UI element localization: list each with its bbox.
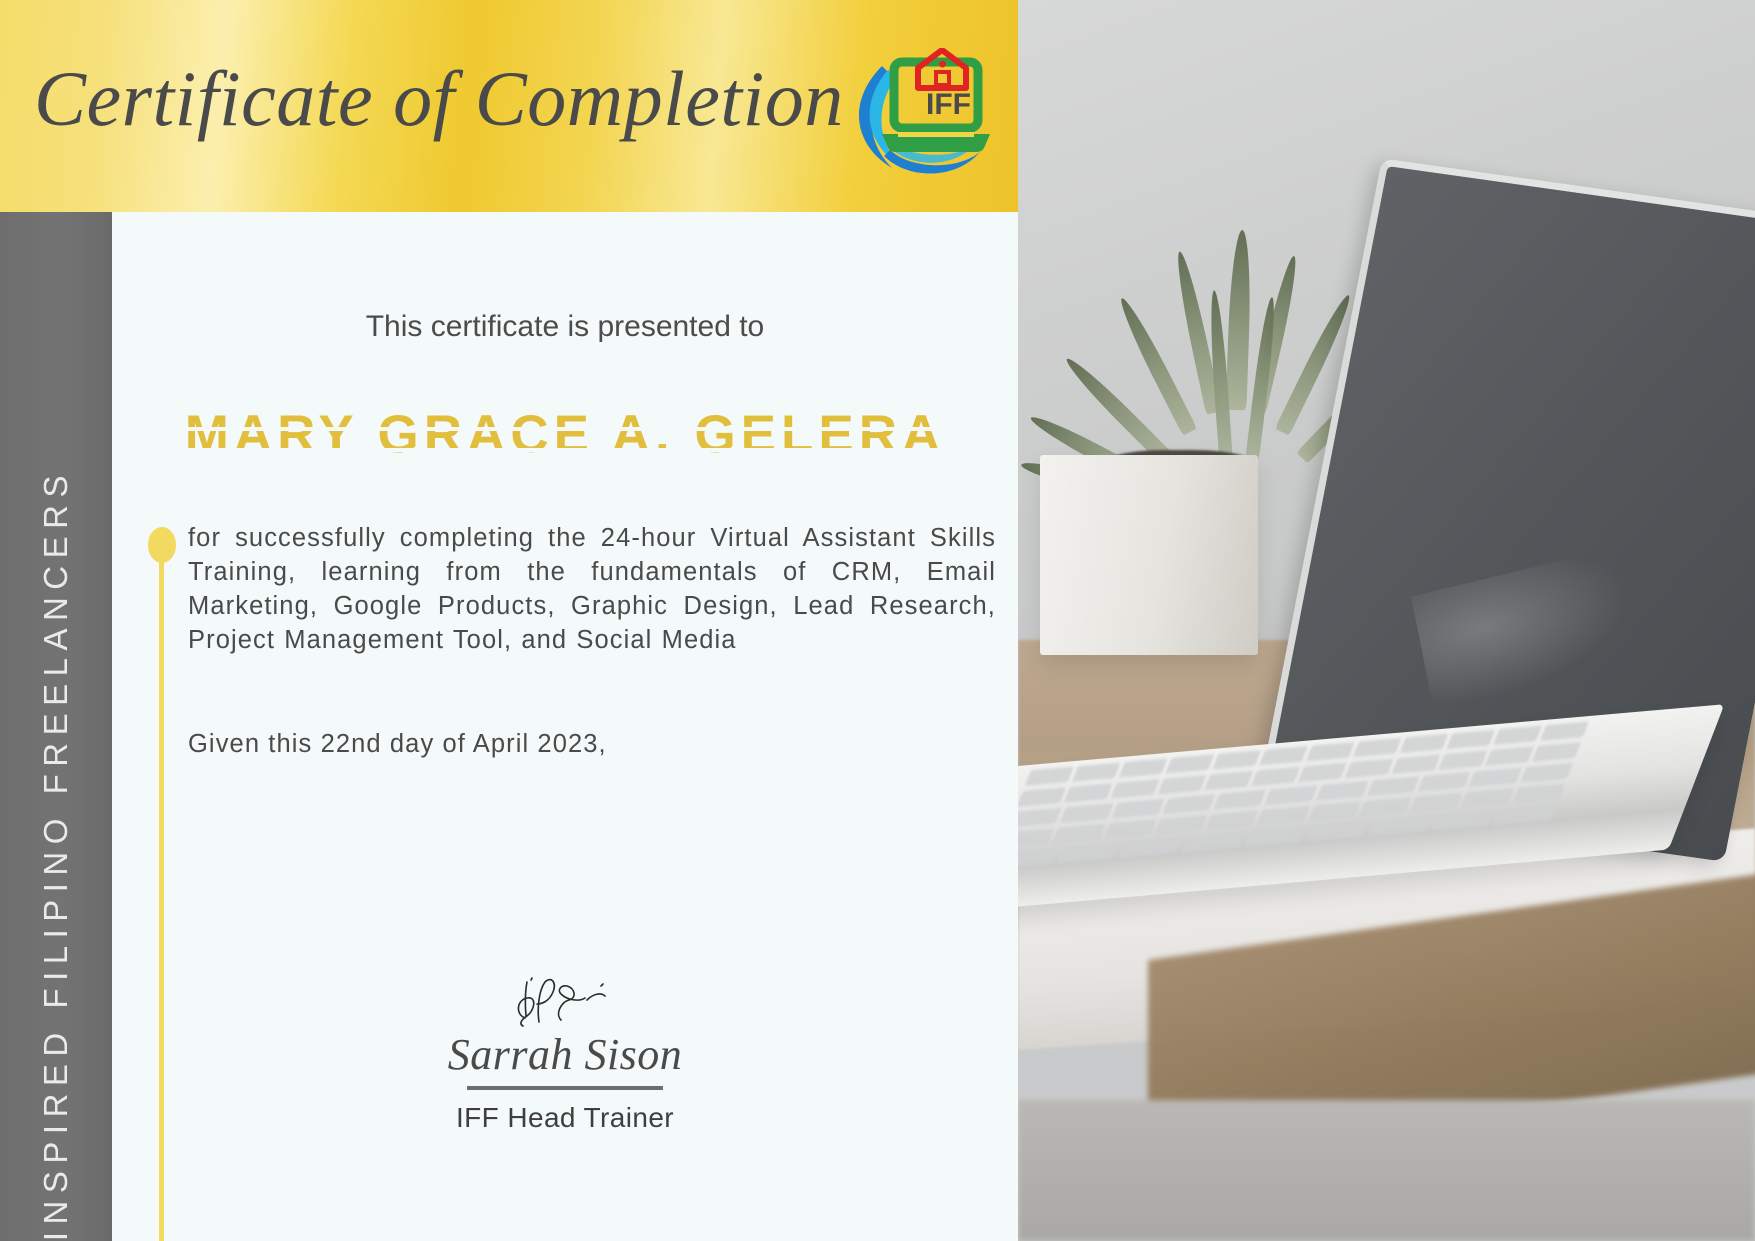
house-icon bbox=[918, 50, 966, 88]
signer-title: IFF Head Trainer bbox=[112, 1102, 1018, 1134]
certificate-header: Certificate of Completion IFF bbox=[0, 0, 1018, 212]
page-title: Certificate of Completion bbox=[34, 60, 844, 138]
brand-sidebar: INSPIRED FILIPINO FREELANCERS bbox=[0, 212, 112, 1241]
achievement-text: for successfully completing the 24-hour … bbox=[188, 522, 996, 658]
logo-wordmark: IFF bbox=[926, 88, 971, 121]
signature-mark-wrap bbox=[112, 972, 1018, 1035]
signature-icon bbox=[505, 972, 625, 1030]
signature-block: Sarrah Sison IFF Head Trainer bbox=[112, 972, 1018, 1134]
iff-logo: IFF bbox=[838, 48, 998, 178]
accent-dot bbox=[148, 527, 176, 563]
accent-line bbox=[159, 560, 164, 1241]
certificate-body: This certificate is presented to MARY GR… bbox=[112, 212, 1018, 1241]
signer-name: Sarrah Sison bbox=[112, 1029, 1018, 1080]
decorative-photo bbox=[1018, 0, 1755, 1241]
iff-logo-svg: IFF bbox=[838, 48, 998, 178]
recipient-name-wrap: MARY GRACE A. GELERA bbox=[112, 404, 1018, 470]
photo-floor bbox=[1018, 1100, 1755, 1241]
sidebar-brand-label: INSPIRED FILIPINO FREELANCERS bbox=[37, 454, 75, 1241]
date-line: Given this 22nd day of April 2023, bbox=[188, 730, 996, 759]
signature-rule bbox=[467, 1086, 663, 1090]
sidebar-label-wrap: INSPIRED FILIPINO FREELANCERS bbox=[0, 212, 112, 1241]
presented-to-label: This certificate is presented to bbox=[112, 310, 1018, 344]
photo-pot bbox=[1040, 455, 1258, 655]
recipient-name: MARY GRACE A. GELERA bbox=[112, 404, 1018, 465]
photo-screen-glint bbox=[1411, 547, 1642, 713]
